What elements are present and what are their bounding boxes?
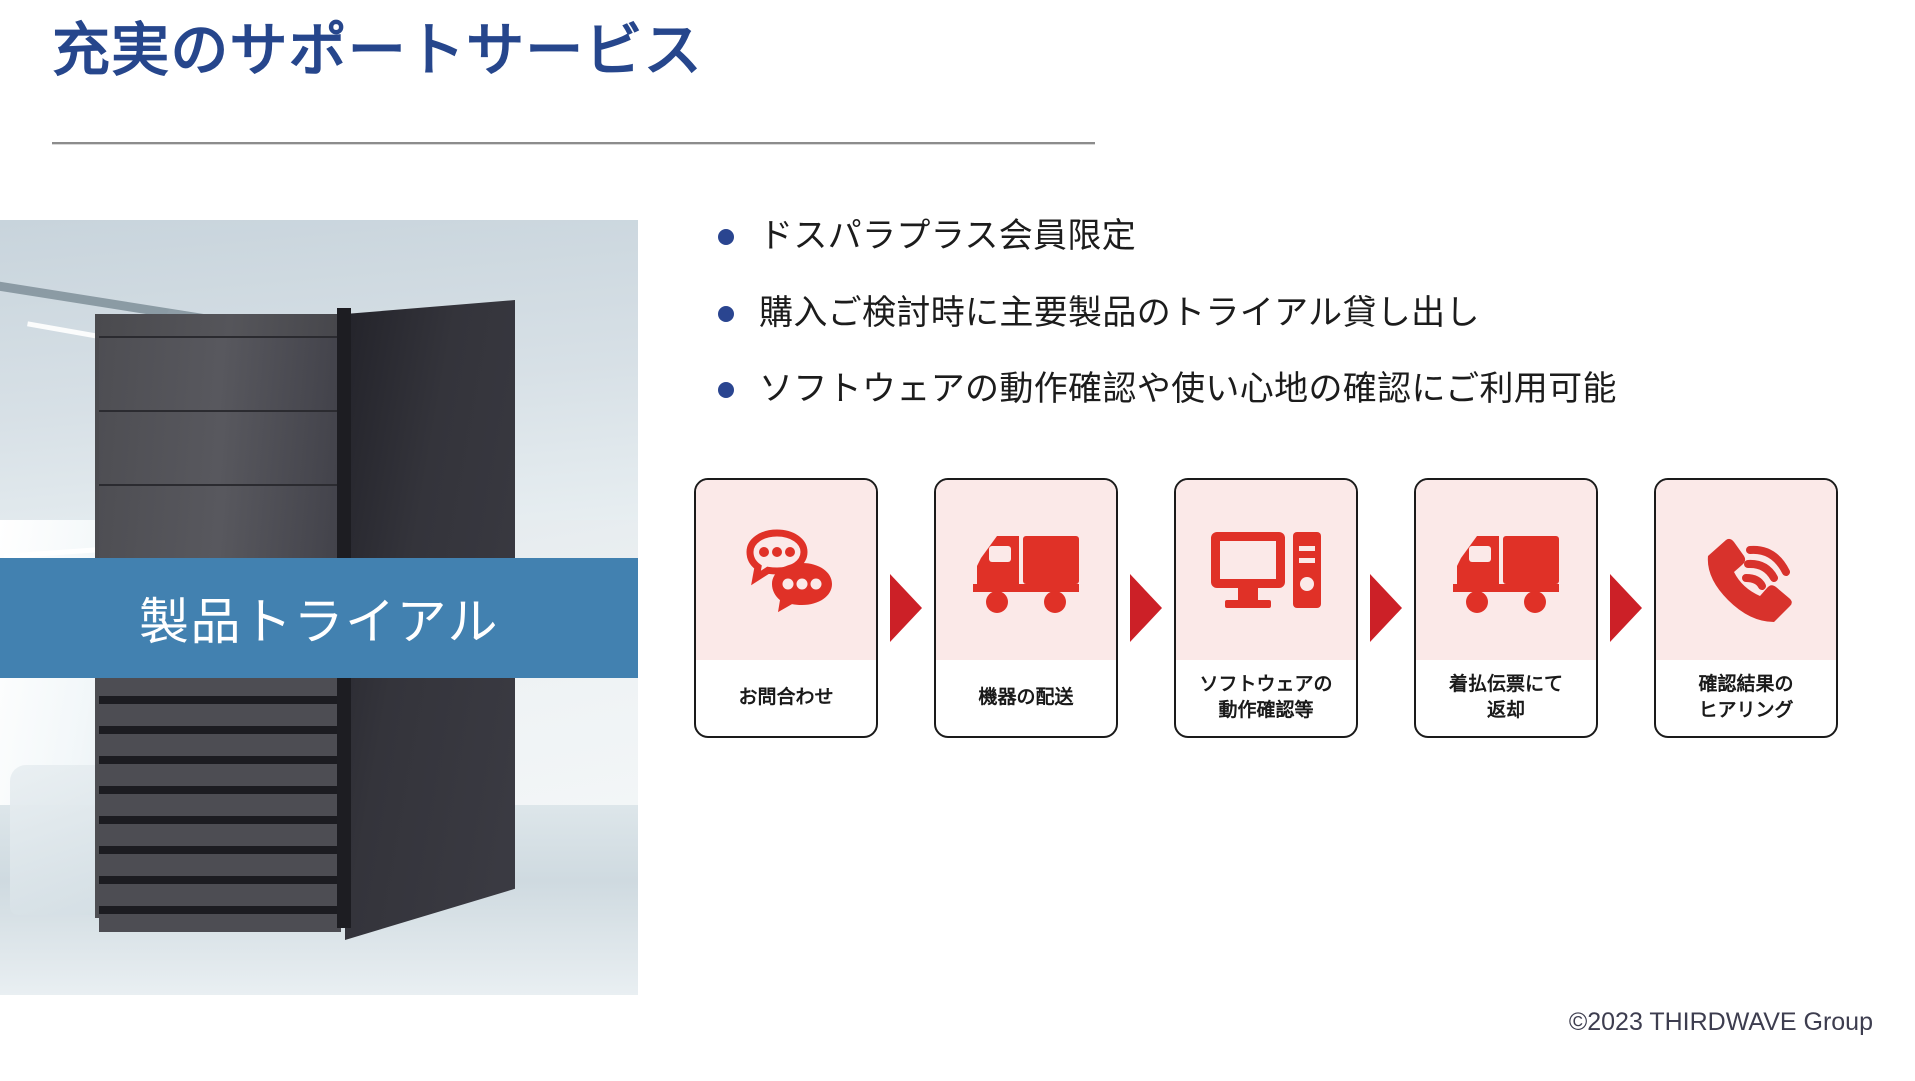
- pc-drive-bay: [99, 410, 341, 486]
- arrow-right-triangle-icon: [1358, 478, 1414, 738]
- flow-step-label: 機器の配送: [974, 660, 1077, 736]
- pc-drive-bay: [99, 484, 341, 560]
- product-trial-banner: 製品トライアル: [0, 558, 638, 678]
- flow-step-inquiry: お問合わせ: [694, 478, 878, 738]
- delivery-truck-icon: [936, 480, 1116, 660]
- flow-step-label: ソフトウェアの 動作確認等: [1195, 660, 1336, 736]
- flow-step-verification: ソフトウェアの 動作確認等: [1174, 478, 1358, 738]
- bullet-text: ドスパラプラス会員限定: [759, 215, 1136, 258]
- arrow-right-triangle-icon: [1118, 478, 1174, 738]
- banner-label: 製品トライアル: [139, 582, 499, 654]
- arrow-right-triangle-icon: [878, 478, 934, 738]
- ringing-phone-icon: [1656, 480, 1836, 660]
- delivery-truck-icon: [1416, 480, 1596, 660]
- flow-step-return: 着払伝票にて 返却: [1414, 478, 1598, 738]
- flow-step-label: 確認結果の ヒアリング: [1694, 660, 1797, 736]
- list-item: ドスパラプラス会員限定: [718, 215, 1838, 258]
- copyright-footer: ©2023 THIRDWAVE Group: [1569, 1008, 1873, 1037]
- feature-bullet-list: ドスパラプラス会員限定 購入ご検討時に主要製品のトライアル貸し出し ソフトウェア…: [718, 215, 1838, 445]
- title-divider: [52, 142, 1095, 145]
- bullet-dot-icon: [718, 306, 734, 322]
- flow-step-delivery: 機器の配送: [934, 478, 1118, 738]
- page-title: 充実のサポートサービス: [52, 18, 703, 85]
- pc-drive-bay: [99, 336, 341, 412]
- bullet-dot-icon: [718, 382, 734, 398]
- flow-step-label: お問合わせ: [734, 660, 837, 736]
- flow-step-hearing: 確認結果の ヒアリング: [1654, 478, 1838, 738]
- process-flow: お問合わせ 機器の配送: [694, 478, 1838, 738]
- bullet-text: 購入ご検討時に主要製品のトライアル貸し出し: [759, 292, 1480, 335]
- flow-step-label: 着払伝票にて 返却: [1445, 660, 1567, 736]
- desktop-computer-icon: [1176, 480, 1356, 660]
- chat-bubbles-icon: [696, 480, 876, 660]
- bullet-text: ソフトウェアの動作確認や使い心地の確認にご利用可能: [759, 368, 1617, 411]
- bullet-dot-icon: [718, 229, 734, 245]
- list-item: ソフトウェアの動作確認や使い心地の確認にご利用可能: [718, 368, 1838, 411]
- arrow-right-triangle-icon: [1598, 478, 1654, 738]
- list-item: 購入ご検討時に主要製品のトライアル貸し出し: [718, 292, 1838, 335]
